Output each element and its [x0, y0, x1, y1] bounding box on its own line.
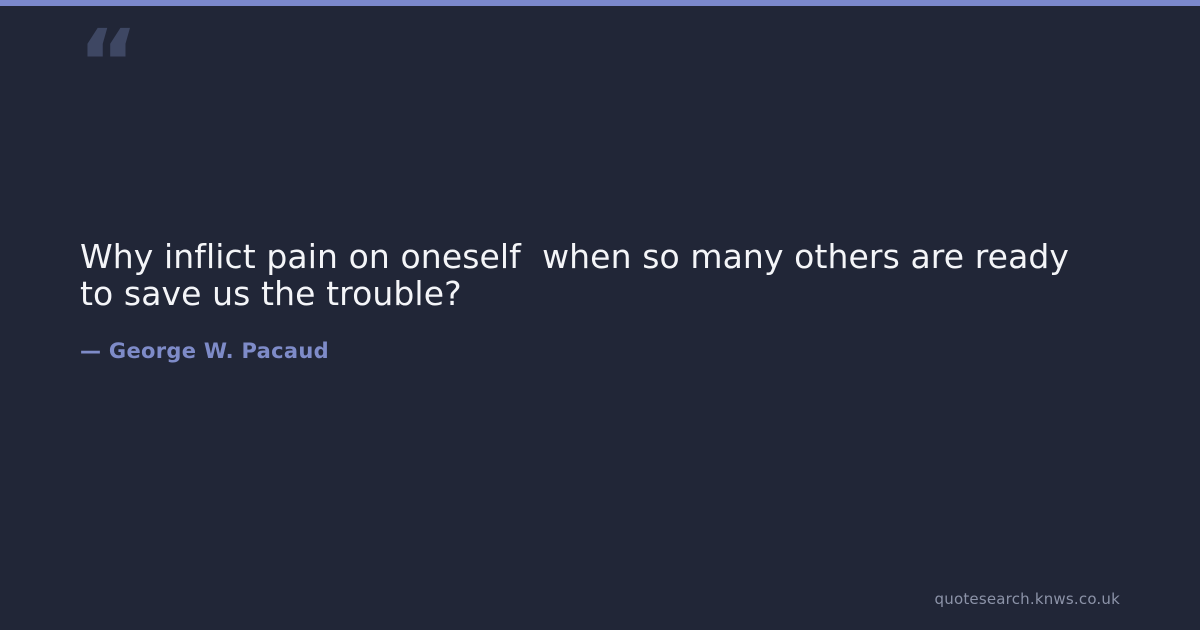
- open-quote-icon: “: [78, 18, 136, 110]
- quote-card: “ Why inflict pain on oneself when so ma…: [0, 0, 1200, 630]
- quote-text: Why inflict pain on oneself when so many…: [80, 238, 1090, 312]
- site-watermark: quotesearch.knws.co.uk: [935, 590, 1120, 608]
- top-accent-bar: [0, 0, 1200, 6]
- quote-content-block: Why inflict pain on oneself when so many…: [80, 238, 1090, 364]
- quote-attribution: — George W. Pacaud: [80, 338, 1090, 364]
